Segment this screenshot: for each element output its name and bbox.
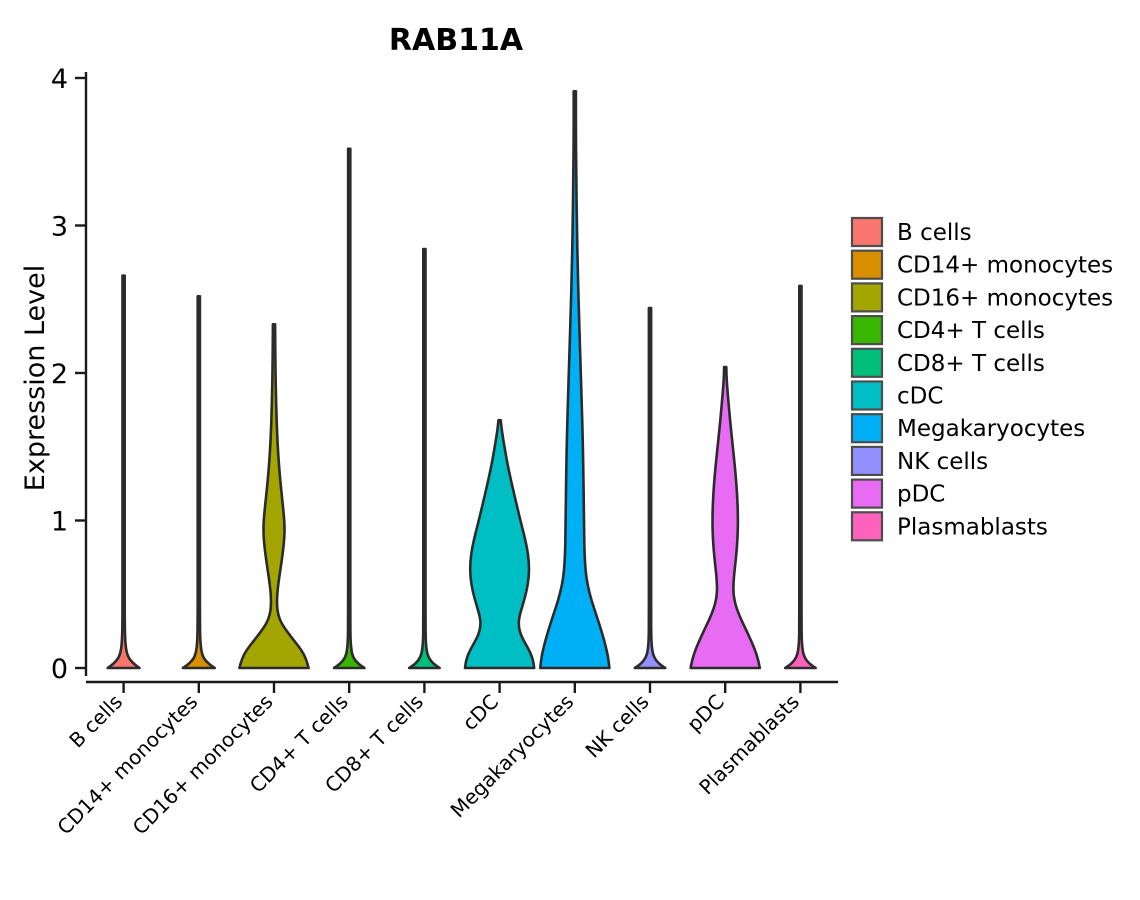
legend-label: CD16+ monocytes (897, 285, 1113, 311)
violin-plot-figure: RAB11A Expression Level 01234 B cellsCD1… (0, 0, 1140, 900)
violin-cd8-t-cells[interactable] (409, 249, 439, 668)
page-title: RAB11A (389, 23, 524, 58)
legend-swatch-nk-cells[interactable] (852, 447, 882, 475)
legend-label: CD14+ monocytes (897, 253, 1113, 279)
x-tick-label: B cells (64, 690, 127, 753)
legend-swatch-megakaryocytes[interactable] (852, 414, 882, 442)
legend-swatch-cdc[interactable] (852, 382, 882, 410)
violin-plasmablasts[interactable] (785, 286, 815, 668)
legend-label: cDC (897, 384, 943, 410)
violin-pdc[interactable] (691, 367, 760, 668)
violin-cd4-t-cells[interactable] (334, 149, 364, 668)
legend-swatch-cd8-t-cells[interactable] (852, 349, 882, 377)
legend-swatch-b-cells[interactable] (852, 218, 882, 246)
x-axis-labels: B cellsCD14+ monocytesCD16+ monocytesCD4… (52, 690, 803, 840)
legend-label: Megakaryocytes (897, 416, 1085, 442)
violin-nk-cells[interactable] (635, 308, 665, 668)
x-tick-label: pDC (682, 690, 729, 737)
legend-label: Plasmablasts (897, 514, 1048, 540)
violin-b-cells[interactable] (108, 276, 140, 668)
y-tick-label: 2 (51, 359, 68, 390)
legend-swatch-cd4-t-cells[interactable] (852, 316, 882, 344)
violin-cd16-monocytes[interactable] (239, 324, 308, 668)
y-tick-label: 0 (51, 654, 68, 685)
legend: B cellsCD14+ monocytesCD16+ monocytesCD4… (852, 218, 1113, 540)
x-tick-label: NK cells (581, 690, 654, 763)
violin-megakaryocytes[interactable] (540, 91, 609, 668)
x-tick-label: CD14+ monocytes (52, 690, 202, 840)
legend-label: CD8+ T cells (897, 351, 1045, 377)
legend-label: NK cells (897, 449, 988, 475)
y-axis-ticks: 01234 (51, 64, 86, 685)
legend-label: B cells (897, 220, 972, 246)
violin-cd14-monocytes[interactable] (183, 296, 215, 668)
y-axis-title: Expression Level (20, 265, 51, 491)
legend-swatch-cd16-monocytes[interactable] (852, 283, 882, 311)
plot-canvas: RAB11A Expression Level 01234 B cellsCD1… (0, 0, 1140, 900)
x-axis-ticks (124, 682, 801, 693)
x-tick-label: CD16+ monocytes (128, 690, 278, 840)
violin-cdc[interactable] (465, 420, 534, 668)
legend-swatch-cd14-monocytes[interactable] (852, 251, 882, 279)
y-tick-label: 3 (51, 212, 68, 243)
y-tick-label: 1 (51, 507, 68, 538)
x-tick-label: cDC (458, 690, 504, 736)
legend-swatch-plasmablasts[interactable] (852, 512, 882, 540)
legend-swatch-pdc[interactable] (852, 480, 882, 508)
legend-label: pDC (897, 482, 945, 508)
legend-label: CD4+ T cells (897, 318, 1045, 344)
y-tick-label: 4 (51, 64, 68, 95)
violin-series (108, 91, 816, 668)
